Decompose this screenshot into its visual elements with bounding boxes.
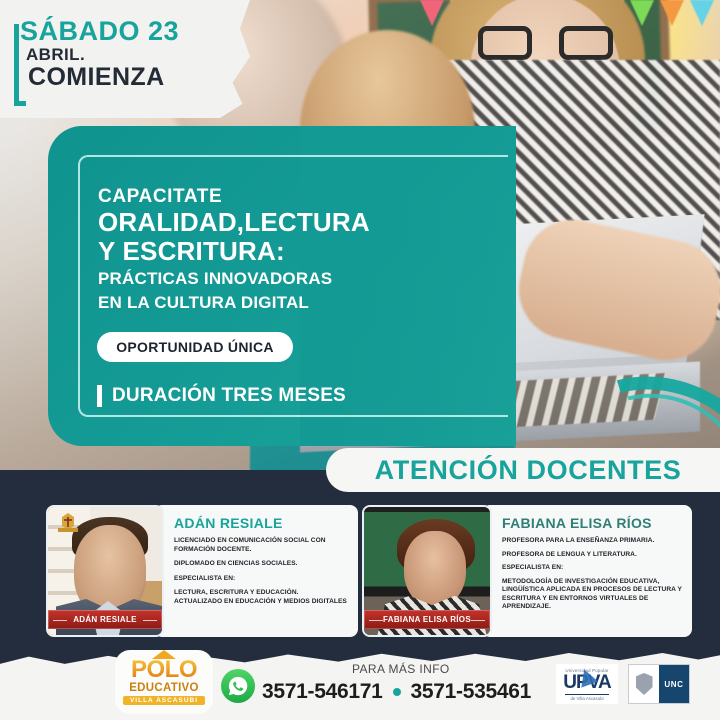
info-label: PARA MÁS INFO: [352, 662, 450, 676]
upva-divider: [565, 694, 609, 695]
presenter-bio-line: ESPECIALISTA EN:: [174, 575, 348, 584]
whatsapp-icon[interactable]: [221, 669, 255, 703]
unc-crest-area: [629, 665, 659, 703]
logo-word-educativo: EDUCATIVO: [129, 682, 199, 695]
logo-word-polo: POLO: [131, 659, 197, 682]
unc-shield-icon: [636, 673, 653, 695]
course-title-line2: Y ESCRITURA:: [98, 237, 498, 266]
phone-number-1[interactable]: 3571-546171: [262, 680, 383, 704]
date-block: SÁBADO 23 ABRIL. COMIENZA: [14, 18, 244, 90]
duration-text: DURACIÓN TRES MESES: [97, 385, 346, 407]
presenter-photo: FABIANA ELISA RÍOS: [362, 505, 492, 637]
presenter-nameplate: FABIANA ELISA RÍOS: [364, 610, 490, 629]
presenter-bio-line: METODOLOGÍA DE INVESTIGACIÓN EDUCATIVA, …: [502, 578, 682, 612]
presenter-bio-line: DIPLOMADO EN CIENCIAS SOCIALES.: [174, 560, 348, 569]
presenter-photo: ADÁN RESIALE: [46, 505, 164, 637]
presenter-bio-line: ESPECIALISTA EN:: [502, 564, 682, 573]
upva-logo-main-text: UPVA: [563, 673, 610, 692]
contact-phones: 3571-546171 3571-535461: [262, 680, 531, 704]
presenter-name: ADÁN RESIALE: [174, 515, 348, 531]
bracket-decoration: [14, 24, 26, 106]
crest-icon: [54, 511, 82, 537]
attention-banner: ATENCIÓN DOCENTES: [326, 448, 720, 492]
polo-educativo-logo: POLO EDUCATIVO VILLA ASCASUBI: [118, 653, 210, 711]
presenter-card: FABIANA ELISA RÍOS FABIANA ELISA RÍOS PR…: [362, 505, 692, 637]
unc-label: UNC: [659, 665, 689, 703]
presenter-nameplate-label: ADÁN RESIALE: [73, 615, 137, 624]
opportunity-pill-label: OPORTUNIDAD ÚNICA: [116, 339, 274, 355]
flyer-poster: SÁBADO 23 ABRIL. COMIENZA CAPACITATE ORA…: [0, 0, 720, 720]
presenter-bio: ADÁN RESIALE LICENCIADO EN COMUNICACIÓN …: [154, 505, 358, 637]
course-subtitle-line1: PRÁCTICAS INNOVADORAS: [98, 269, 498, 290]
course-text-block: CAPACITATE ORALIDAD,LECTURA Y ESCRITURA:…: [98, 186, 498, 314]
presenter-name: FABIANA ELISA RÍOS: [502, 515, 682, 531]
whatsapp-glyph: [227, 675, 249, 697]
date-month: ABRIL.: [26, 45, 244, 65]
presenter-bio-line: PROFESORA PARA LA ENSEÑANZA PRIMARIA.: [502, 537, 682, 546]
unc-logo: UNC: [628, 664, 690, 704]
separator-dot: [393, 688, 401, 696]
course-eyebrow: CAPACITATE: [98, 186, 498, 208]
eyeglasses-icon: [478, 26, 613, 60]
presenter-bio-line: LICENCIADO EN COMUNICACIÓN SOCIAL CON FO…: [174, 537, 348, 554]
phone-number-2[interactable]: 3571-535461: [411, 680, 532, 704]
course-title-line1: ORALIDAD,LECTURA: [98, 208, 498, 237]
presenter-bio-line: LECTURA, ESCRITURA Y EDUCACIÓN. ACTUALIZ…: [174, 589, 348, 606]
course-subtitle-line2: EN LA CULTURA DIGITAL: [98, 293, 498, 314]
logo-word-location: VILLA ASCASUBI: [123, 696, 205, 705]
presenter-face: [404, 531, 466, 607]
upva-logo-bottom-text: de Villa Ascasubi: [570, 696, 603, 701]
upva-logo: Universidad Popular UPVA de Villa Ascasu…: [556, 664, 618, 704]
presenter-nameplate-label: FABIANA ELISA RÍOS: [383, 615, 471, 624]
date-starts: COMIENZA: [28, 65, 244, 90]
presenter-nameplate: ADÁN RESIALE: [48, 610, 162, 629]
presenter-bio: FABIANA ELISA RÍOS PROFESORA PARA LA ENS…: [482, 505, 692, 637]
date-day: SÁBADO 23: [20, 18, 244, 45]
attention-banner-label: ATENCIÓN DOCENTES: [375, 455, 682, 486]
graduation-cap-icon: [152, 650, 176, 659]
presenter-card: ADÁN RESIALE ADÁN RESIALE LICENCIADO EN …: [46, 505, 358, 637]
opportunity-pill: OPORTUNIDAD ÚNICA: [97, 332, 293, 362]
presenter-bio-line: PROFESORA DE LENGUA Y LITERATURA.: [502, 551, 682, 560]
